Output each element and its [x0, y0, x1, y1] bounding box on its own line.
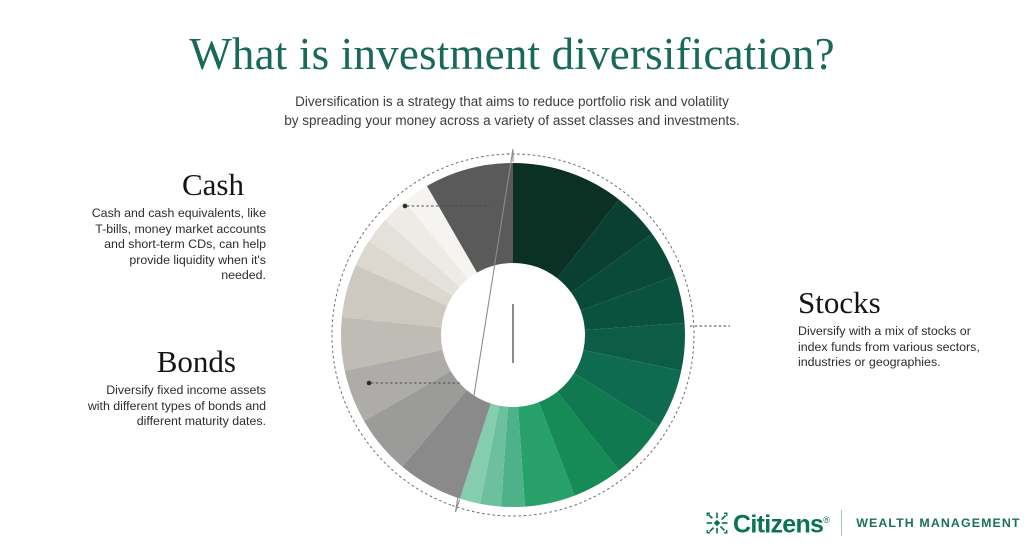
- page-subtitle: Diversification is a strategy that aims …: [0, 92, 1024, 130]
- citizens-wordmark-text: Citizens: [733, 510, 823, 538]
- cash-leader-dot: [403, 204, 408, 209]
- citizens-wordmark: Citizens®: [733, 508, 829, 537]
- subtitle-line-1: Diversification is a strategy that aims …: [0, 92, 1024, 111]
- diversification-donut-chart: [300, 132, 730, 540]
- callout-stocks: Stocks Diversify with a mix of stocks or…: [798, 286, 988, 371]
- callout-bonds-body: Diversify fixed income assets with diffe…: [86, 383, 266, 430]
- callout-stocks-heading: Stocks: [798, 286, 988, 320]
- subtitle-line-2: by spreading your money across a variety…: [0, 111, 1024, 130]
- page-title: What is investment diversification?: [0, 28, 1024, 80]
- citizens-snowflake-icon: [706, 512, 728, 534]
- callout-cash-heading: Cash: [86, 168, 244, 202]
- infographic-canvas: What is investment diversification? Dive…: [0, 0, 1024, 557]
- registered-mark: ®: [823, 515, 829, 525]
- logo-subbrand: WEALTH MANAGEMENT: [856, 516, 1020, 530]
- callout-bonds-heading: Bonds: [86, 345, 236, 379]
- callout-stocks-body: Diversify with a mix of stocks or index …: [798, 324, 988, 371]
- callout-cash: Cash Cash and cash equivalents, like T-b…: [86, 168, 266, 284]
- callout-cash-body: Cash and cash equivalents, like T-bills,…: [86, 206, 266, 284]
- callout-bonds: Bonds Diversify fixed income assets with…: [86, 345, 266, 430]
- donut-svg: [300, 132, 730, 540]
- logo-divider: [841, 510, 842, 536]
- citizens-wealth-management-logo: Citizens® WEALTH MANAGEMENT: [706, 508, 1021, 537]
- bonds-leader-dot: [367, 381, 372, 386]
